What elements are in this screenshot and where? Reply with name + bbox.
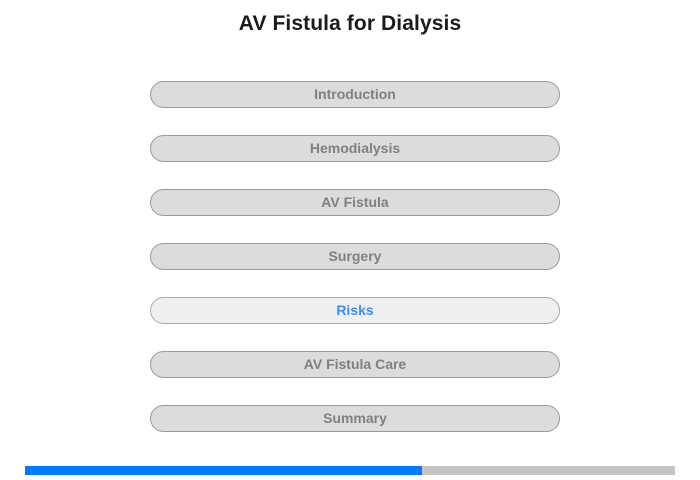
menu-item-summary[interactable]: Summary bbox=[150, 405, 560, 432]
menu-item-risks[interactable]: Risks bbox=[150, 297, 560, 324]
progress-bar[interactable] bbox=[25, 466, 675, 475]
course-navigation-screen: AV Fistula for Dialysis IntroductionHemo… bbox=[0, 0, 700, 480]
menu-item-hemodialysis[interactable]: Hemodialysis bbox=[150, 135, 560, 162]
menu-item-introduction[interactable]: Introduction bbox=[150, 81, 560, 108]
menu-item-surgery[interactable]: Surgery bbox=[150, 243, 560, 270]
chapter-menu: IntroductionHemodialysisAV FistulaSurger… bbox=[150, 81, 560, 432]
menu-item-av-fistula[interactable]: AV Fistula bbox=[150, 189, 560, 216]
menu-item-av-fistula-care[interactable]: AV Fistula Care bbox=[150, 351, 560, 378]
progress-bar-fill bbox=[25, 466, 422, 475]
page-title: AV Fistula for Dialysis bbox=[0, 10, 700, 38]
